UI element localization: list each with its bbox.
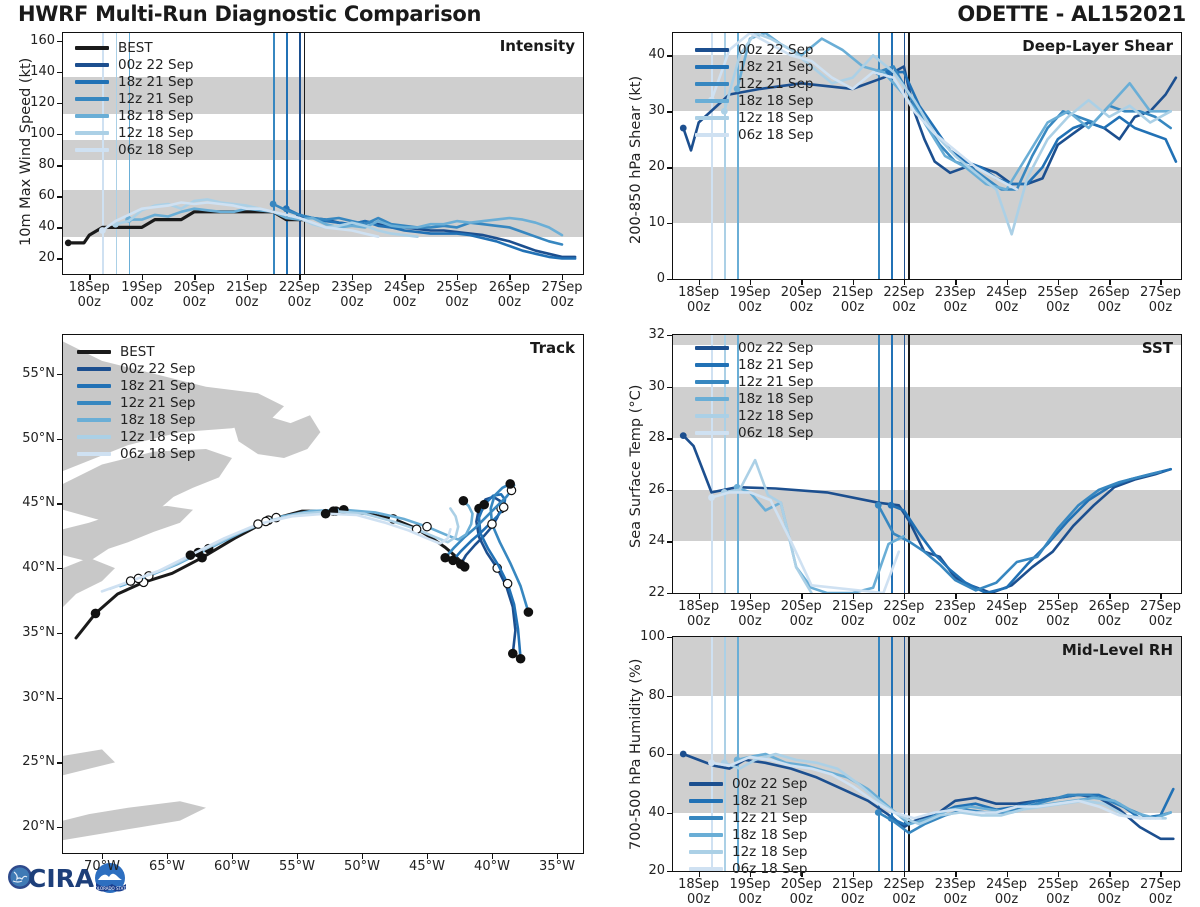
x-tick-hour: 00z [112,295,172,310]
track-marker-filled [457,560,465,568]
legend-label: 00z 22 Sep [738,42,813,58]
x-tick-label: 26Sep00z [479,280,539,310]
track-marker-filled [506,480,514,488]
legend-item[interactable]: 18z 21 Sep [695,356,813,373]
legend-item[interactable]: 18z 18 Sep [695,390,813,407]
lon-tick-label: 50°W [332,859,392,874]
landmass [63,749,115,775]
y-tick-label: 20 [648,863,665,878]
y-tick-label: 24 [648,533,665,548]
lon-tick-mark [102,854,103,859]
legend-label: 12z 18 Sep [738,110,813,126]
track-marker-open [500,503,508,511]
legend: 00z 22 Sep18z 21 Sep12z 21 Sep18z 18 Sep… [689,775,807,877]
track-marker-open [126,577,134,585]
lon-tick-mark [232,854,233,859]
y-tick-label: 26 [648,482,665,497]
legend-label: 18z 21 Sep [738,357,813,373]
legend-swatch [75,148,109,152]
y-axis-label-intensity: 10m Max Wind Speed (kt) [18,57,34,245]
legend-swatch [77,452,111,456]
x-tick-hour: 00z [164,295,224,310]
track-marker-filled [524,608,532,616]
legend-item[interactable]: 12z 18 Sep [695,407,813,424]
y-tick-mark [667,387,672,388]
y-tick-mark [57,196,62,197]
lat-tick-label: 30°N [22,690,55,705]
x-tick-label: 25Sep00z [427,280,487,310]
panel-title-track: Track [530,339,575,357]
y-tick-mark [667,55,672,56]
legend-swatch [75,131,109,135]
legend-label: 12z 18 Sep [738,408,813,424]
lon-tick-label: 70°W [72,859,132,874]
lat-tick-mark [57,439,62,440]
legend-item[interactable]: 06z 18 Sep [77,445,195,462]
x-tick-mark [1058,280,1059,285]
x-tick-mark [699,280,700,285]
track-marker-filled [480,500,488,508]
x-tick-mark [1007,594,1008,599]
legend-item[interactable]: 06z 18 Sep [695,126,813,143]
legend-item[interactable]: 12z 18 Sep [75,124,193,141]
lat-tick-label: 50°N [22,431,55,446]
legend-label: 18z 21 Sep [118,74,193,90]
y-tick-label: 10 [648,215,665,230]
legend-swatch [77,435,111,439]
x-tick-mark [853,872,854,877]
x-tick-label: 24Sep00z [374,280,434,310]
landmass [63,558,115,607]
legend-label: 06z 18 Sep [738,127,813,143]
track-line [461,497,516,654]
y-tick-mark [57,134,62,135]
y-tick-label: 28 [648,430,665,445]
legend-swatch [75,46,109,50]
y-tick-label: 20 [38,250,55,265]
series-start-marker [708,759,715,766]
legend-swatch [77,401,111,405]
legend-item[interactable]: 12z 21 Sep [75,90,193,107]
x-tick-hour: 00z [269,295,329,310]
x-tick-mark [904,594,905,599]
x-tick-mark [1160,280,1161,285]
x-tick-mark [509,275,510,280]
y-tick-label: 100 [640,629,665,644]
lat-tick-label: 20°N [22,819,55,834]
x-tick-mark [194,275,195,280]
track-marker-filled [516,655,524,663]
series-start-marker [99,227,106,234]
legend-swatch [689,782,723,786]
legend-label: 18z 18 Sep [120,412,195,428]
legend-label: 06z 18 Sep [118,142,193,158]
x-tick-mark [1109,280,1110,285]
legend-swatch [689,833,723,837]
legend-label: 18z 21 Sep [738,59,813,75]
x-tick-label: 19Sep00z [112,280,172,310]
track-marker-filled [459,497,467,505]
track-marker-filled [441,554,449,562]
legend-label: 00z 22 Sep [118,57,193,73]
legend-swatch [695,82,729,86]
landmass [232,415,320,458]
lat-tick-mark [57,568,62,569]
legend-item[interactable]: 12z 18 Sep [77,428,195,445]
lat-tick-mark [57,762,62,763]
x-tick-mark [299,275,300,280]
series-line [683,436,1170,593]
y-axis-label-shear: 200-850 hPa Shear (kt) [628,76,644,244]
legend-label: 12z 18 Sep [118,125,193,141]
y-tick-mark [667,541,672,542]
x-tick-date: 18Sep [59,280,119,295]
legend-label: 00z 22 Sep [120,361,195,377]
legend-item[interactable]: 12z 18 Sep [695,109,813,126]
x-tick-date: 27Sep [532,280,592,295]
track-marker-filled [91,609,99,617]
legend-label: 18z 18 Sep [118,108,193,124]
x-tick-mark [853,594,854,599]
legend-label: 12z 21 Sep [738,374,813,390]
track-marker-open [503,579,511,587]
legend-item[interactable]: 12z 21 Sep [77,394,195,411]
lat-tick-mark [57,698,62,699]
legend: 00z 22 Sep18z 21 Sep12z 21 Sep18z 18 Sep… [695,41,813,143]
legend-item[interactable]: BEST [75,39,193,56]
legend-item[interactable]: 18z 21 Sep [695,58,813,75]
y-tick-label: 30 [648,103,665,118]
legend-label: 18z 21 Sep [120,378,195,394]
x-tick-mark [352,275,353,280]
lat-tick-mark [57,633,62,634]
y-tick-label: 80 [648,688,665,703]
legend-swatch [77,367,111,371]
legend-item[interactable]: 12z 18 Sep [689,843,807,860]
series-start-marker [888,502,895,509]
y-tick-mark [667,637,672,638]
y-tick-label: 100 [30,126,55,141]
x-tick-mark [750,594,751,599]
legend: BEST00z 22 Sep18z 21 Sep12z 21 Sep18z 18… [75,39,193,158]
track-marker-open [488,520,496,528]
legend-swatch [695,380,729,384]
lat-tick-label: 40°N [22,560,55,575]
y-tick-mark [57,103,62,104]
series-start-marker [680,432,687,439]
x-tick-date: 22Sep [269,280,329,295]
legend-label: 12z 21 Sep [732,810,807,826]
y-tick-label: 40 [648,47,665,62]
x-tick-mark [699,594,700,599]
x-tick-mark [457,275,458,280]
x-tick-mark [955,872,956,877]
legend: BEST00z 22 Sep18z 21 Sep12z 21 Sep18z 18… [77,343,195,462]
x-tick-mark [1007,872,1008,877]
y-tick-mark [57,258,62,259]
legend: 00z 22 Sep18z 21 Sep12z 21 Sep18z 18 Sep… [695,339,813,441]
legend-swatch [695,346,729,350]
y-axis-label-rh: 700-500 hPa Humidity (%) [628,659,644,850]
x-tick-mark [1058,872,1059,877]
panel-title-intensity: Intensity [500,37,575,55]
legend-item[interactable]: 18z 18 Sep [75,107,193,124]
y-tick-label: 40 [648,805,665,820]
lon-tick-label: 45°W [397,859,457,874]
series-line [891,469,1171,593]
legend-swatch [689,850,723,854]
y-axis-label-sst: Sea Surface Temp (°C) [628,385,644,548]
lat-tick-label: 35°N [22,625,55,640]
lon-tick-mark [362,854,363,859]
series-line [724,460,811,593]
legend-swatch [75,114,109,118]
y-tick-mark [667,871,672,872]
legend-item[interactable]: 12z 21 Sep [695,373,813,390]
legend-item[interactable]: 00z 22 Sep [689,775,807,792]
panel-rh: Mid-Level RH00z 22 Sep18z 21 Sep12z 21 S… [672,636,1182,872]
panel-title-rh: Mid-Level RH [1062,641,1173,659]
legend-item[interactable]: 12z 21 Sep [695,75,813,92]
x-tick-mark [1007,280,1008,285]
x-tick-date: 27Sep [1130,285,1190,300]
x-tick-mark [801,280,802,285]
legend-swatch [695,431,729,435]
legend-swatch [689,816,723,820]
x-tick-mark [89,275,90,280]
x-tick-label: 18Sep00z [59,280,119,310]
legend-swatch [689,867,723,871]
lat-tick-label: 45°N [22,495,55,510]
legend-swatch [695,65,729,69]
legend-label: 12z 21 Sep [120,395,195,411]
lat-tick-mark [57,374,62,375]
y-tick-label: 0 [657,271,665,286]
lat-tick-mark [57,503,62,504]
panel-title-sst: SST [1142,339,1173,357]
y-tick-label: 60 [648,746,665,761]
legend-label: 06z 18 Sep [732,861,807,877]
y-tick-label: 30 [648,379,665,394]
track-marker-filled [449,556,457,564]
x-tick-date: 20Sep [164,280,224,295]
y-tick-label: 80 [38,157,55,172]
legend-swatch [77,384,111,388]
legend-item[interactable]: 00z 22 Sep [695,41,813,58]
legend-item[interactable]: 06z 18 Sep [695,424,813,441]
y-tick-mark [667,438,672,439]
legend-item[interactable]: 00z 22 Sep [77,360,195,377]
track-line [453,494,521,659]
y-tick-label: 20 [648,159,665,174]
y-tick-mark [57,41,62,42]
landmass [63,801,206,840]
x-tick-hour: 00z [59,295,119,310]
legend-swatch [689,799,723,803]
y-tick-label: 32 [648,327,665,342]
lon-tick-mark [492,854,493,859]
series-start-marker [875,809,882,816]
legend-swatch [75,63,109,67]
x-tick-mark [1160,872,1161,877]
x-tick-date: 25Sep [427,280,487,295]
x-tick-mark [404,275,405,280]
y-tick-mark [667,167,672,168]
x-tick-date: 26Sep [479,280,539,295]
x-tick-mark [955,280,956,285]
x-tick-mark [904,280,905,285]
y-tick-label: 140 [30,64,55,79]
x-tick-date: 23Sep [322,280,382,295]
y-tick-label: 60 [38,188,55,203]
legend-label: 06z 18 Sep [120,446,195,462]
x-tick-mark [562,275,563,280]
panel-title-shear: Deep-Layer Shear [1022,37,1173,55]
lon-tick-label: 40°W [462,859,522,874]
x-tick-mark [1160,594,1161,599]
lon-tick-mark [297,854,298,859]
legend-label: BEST [120,344,155,360]
legend-label: 12z 18 Sep [120,429,195,445]
legend-swatch [75,97,109,101]
y-tick-label: 120 [30,95,55,110]
legend-item[interactable]: 18z 21 Sep [77,377,195,394]
lon-tick-label: 65°W [137,859,197,874]
x-tick-mark [955,594,956,599]
x-tick-mark [904,872,905,877]
panel-track: TrackBEST00z 22 Sep18z 21 Sep12z 21 Sep1… [62,334,584,854]
legend-swatch [77,350,111,354]
lat-tick-label: 25°N [22,754,55,769]
legend-item[interactable]: BEST [77,343,195,360]
x-tick-hour: 00z [532,295,592,310]
legend-item[interactable]: 18z 21 Sep [75,73,193,90]
y-tick-mark [667,754,672,755]
legend-item[interactable]: 18z 18 Sep [689,826,807,843]
lat-tick-mark [57,827,62,828]
x-tick-label: 23Sep00z [322,280,382,310]
lat-tick-label: 55°N [22,366,55,381]
y-tick-mark [667,111,672,112]
lon-tick-mark [427,854,428,859]
x-tick-hour: 00z [1130,300,1190,315]
legend-item[interactable]: 18z 18 Sep [695,92,813,109]
svg-text:COLORADO STATE: COLORADO STATE [92,886,129,891]
legend-item[interactable]: 06z 18 Sep [689,860,807,877]
page-title-left: HWRF Multi-Run Diagnostic Comparison [18,2,481,26]
track-marker-open [423,522,431,530]
x-tick-label: 22Sep00z [269,280,329,310]
y-tick-mark [667,490,672,491]
x-tick-mark [750,280,751,285]
x-tick-hour: 00z [322,295,382,310]
legend-item[interactable]: 18z 18 Sep [77,411,195,428]
x-tick-hour: 00z [217,295,277,310]
x-tick-mark [1109,594,1110,599]
panel-shear: Deep-Layer Shear00z 22 Sep18z 21 Sep12z … [672,32,1182,280]
x-tick-mark [1109,872,1110,877]
lon-tick-mark [167,854,168,859]
lon-tick-label: 35°W [527,859,587,874]
series-start-marker [680,751,687,758]
series-line [286,209,575,259]
panel-sst: SST00z 22 Sep18z 21 Sep12z 21 Sep18z 18 … [672,334,1182,594]
x-tick-label: 27Sep00z [1130,877,1190,907]
series-start-marker [680,125,687,132]
y-tick-mark [667,593,672,594]
x-tick-date: 19Sep [112,280,172,295]
x-tick-hour: 00z [374,295,434,310]
y-tick-mark [667,696,672,697]
legend-swatch [695,116,729,120]
legend-label: 00z 22 Sep [732,776,807,792]
x-tick-date: 27Sep [1130,599,1190,614]
x-tick-label: 27Sep00z [532,280,592,310]
legend-label: 18z 18 Sep [738,391,813,407]
track-marker-filled [321,510,329,518]
y-tick-mark [667,279,672,280]
legend-label: 12z 21 Sep [738,76,813,92]
legend-item[interactable]: 00z 22 Sep [695,339,813,356]
y-tick-label: 40 [38,219,55,234]
y-tick-label: 22 [648,585,665,600]
lon-tick-label: 55°W [267,859,327,874]
legend-label: 18z 21 Sep [732,793,807,809]
x-tick-date: 24Sep [374,280,434,295]
legend-item[interactable]: 06z 18 Sep [75,141,193,158]
legend-swatch [75,80,109,84]
legend-label: 00z 22 Sep [738,340,813,356]
legend-item[interactable]: 12z 21 Sep [689,809,807,826]
x-tick-label: 27Sep00z [1130,285,1190,315]
x-tick-mark [801,594,802,599]
x-tick-label: 21Sep00z [217,280,277,310]
legend-item[interactable]: 00z 22 Sep [75,56,193,73]
x-tick-hour: 00z [427,295,487,310]
legend-label: 06z 18 Sep [738,425,813,441]
x-tick-label: 20Sep00z [164,280,224,310]
legend-label: 12z 21 Sep [118,91,193,107]
y-tick-mark [667,335,672,336]
series-start-marker [270,201,277,208]
legend-swatch [77,418,111,422]
series-start-marker [708,494,715,501]
series-start-marker [875,502,882,509]
y-tick-mark [57,227,62,228]
page-title-right: ODETTE - AL152021 [957,2,1186,26]
y-tick-mark [667,813,672,814]
legend-swatch [695,397,729,401]
track-marker-open [254,520,262,528]
x-tick-mark [247,275,248,280]
legend-label: BEST [118,40,153,56]
panel-intensity: IntensityBEST00z 22 Sep18z 21 Sep12z 21 … [62,32,584,275]
x-tick-hour: 00z [1130,614,1190,629]
x-tick-hour: 00z [479,295,539,310]
series-start-marker [65,240,72,247]
legend-label: 18z 18 Sep [738,93,813,109]
track-marker-filled [509,649,517,657]
y-tick-mark [667,223,672,224]
x-tick-date: 21Sep [217,280,277,295]
y-tick-mark [57,165,62,166]
lon-tick-label: 60°W [202,859,262,874]
legend-swatch [695,99,729,103]
legend-swatch [695,133,729,137]
y-tick-mark [57,72,62,73]
legend-label: 12z 18 Sep [732,844,807,860]
legend-item[interactable]: 18z 21 Sep [689,792,807,809]
